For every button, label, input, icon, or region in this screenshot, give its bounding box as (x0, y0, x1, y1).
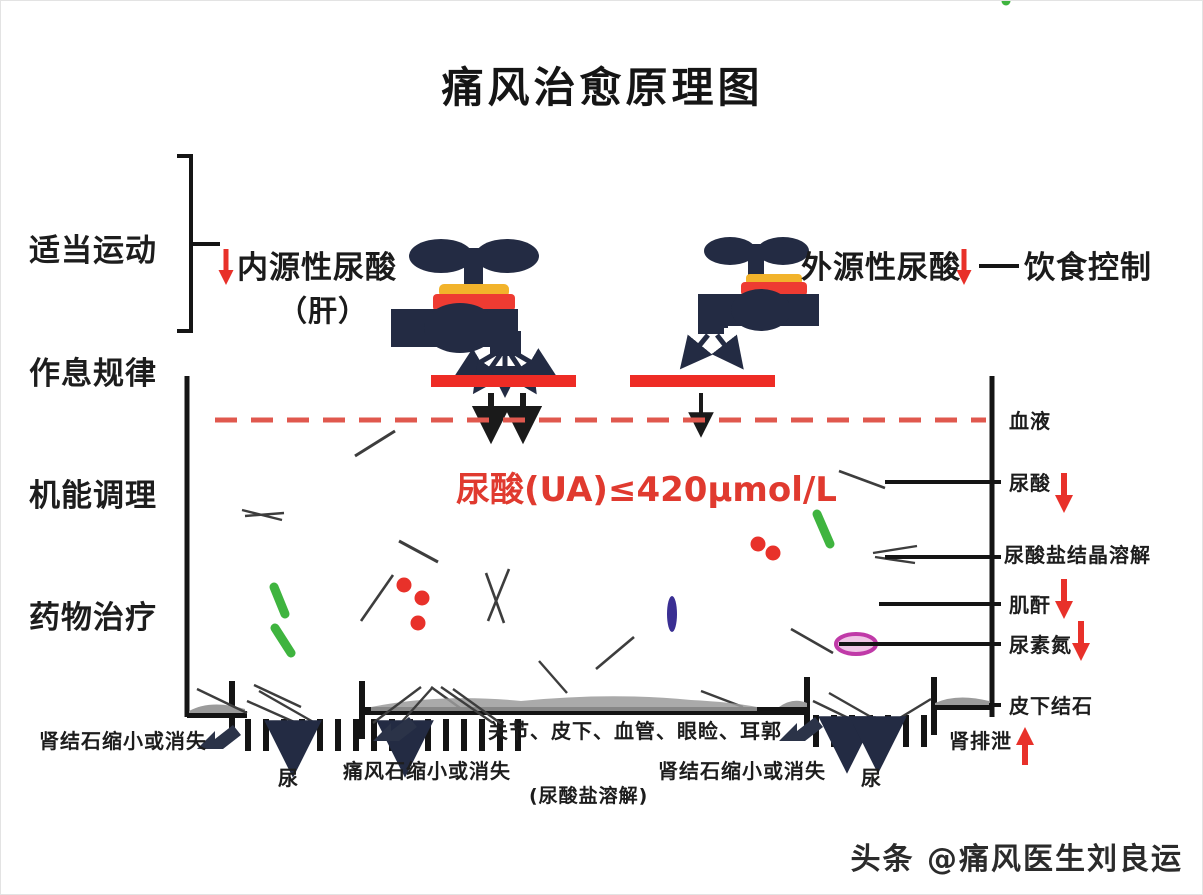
treatment-list: 适当运动 作息规律 机能调理 药物治疗 (29, 153, 157, 722)
label-subcutaneous-tophi: 皮下结石 (1009, 694, 1093, 720)
exogenous-uric-acid-label: 外源性尿酸 (801, 249, 961, 289)
renal-excretion-up-arrow-icon (1016, 727, 1034, 765)
treatment-bracket (177, 156, 220, 331)
watermark: 头条 @痛风医生刘良运 (1, 841, 1183, 879)
red-bar-right (630, 375, 775, 387)
label-tophi-shrink: 痛风石缩小或消失 (343, 759, 511, 785)
label-urate-crystal-dissolution: 尿酸盐结晶溶解 (1004, 543, 1151, 569)
diet-control-label: 饮食控制 (1024, 249, 1152, 289)
faucet-exogenous-icon (690, 237, 819, 357)
label-urine-left: 尿 (278, 766, 299, 792)
red-bar-left (431, 375, 576, 387)
treatment-item-function: 机能调理 (29, 477, 157, 520)
treatment-item-schedule: 作息规律 (29, 355, 157, 398)
label-creatinine: 肌酐 (1009, 593, 1051, 619)
label-kidney-stone-shrink-left: 肾结石缩小或消失 (39, 729, 207, 755)
sediment-deposits (189, 696, 989, 713)
label-kidney-stone-shrink-right: 肾结石缩小或消失 (658, 759, 826, 785)
label-affected-sites: 关节、皮下、血管、眼睑、耳郭 (488, 719, 782, 745)
right-leader-lines (839, 482, 1001, 705)
uric-acid-threshold-formula: 尿酸(UA)≤420μmol/L (456, 469, 837, 513)
gout-cure-principle-diagram: 痛风治愈原理图 适当运动 作息规律 机能调理 药物治疗 内源性尿酸 （肝） 外源… (0, 0, 1203, 895)
uric-acid-down-arrow-icon (1055, 473, 1073, 513)
diagram-canvas (1, 1, 1203, 895)
kidney-filter-teeth-right (813, 715, 927, 747)
red-cell-particles (397, 537, 781, 631)
label-blood: 血液 (1009, 409, 1051, 435)
faucet-endogenous-icon (391, 239, 544, 382)
label-urine-right: 尿 (861, 766, 882, 792)
label-blood-urea-nitrogen: 尿素氮 (1009, 633, 1072, 659)
treatment-item-medication: 药物治疗 (29, 599, 157, 642)
right-label-arrows (1016, 473, 1090, 765)
label-renal-excretion: 肾排泄 (949, 729, 1012, 755)
label-uric-acid: 尿酸 (1009, 471, 1051, 497)
endogenous-uric-acid-label: 内源性尿酸 (237, 249, 397, 289)
creatinine-down-arrow-icon (1055, 579, 1073, 619)
label-urate-dissolution: (尿酸盐溶解) (529, 784, 648, 808)
endogenous-down-arrow-icon (219, 249, 234, 285)
page-title: 痛风治愈原理图 (1, 61, 1203, 115)
bun-down-arrow-icon (1072, 621, 1090, 661)
treatment-item-exercise: 适当运动 (29, 232, 157, 275)
endogenous-organ-label: （肝） (278, 293, 368, 330)
purple-particle (667, 596, 677, 632)
